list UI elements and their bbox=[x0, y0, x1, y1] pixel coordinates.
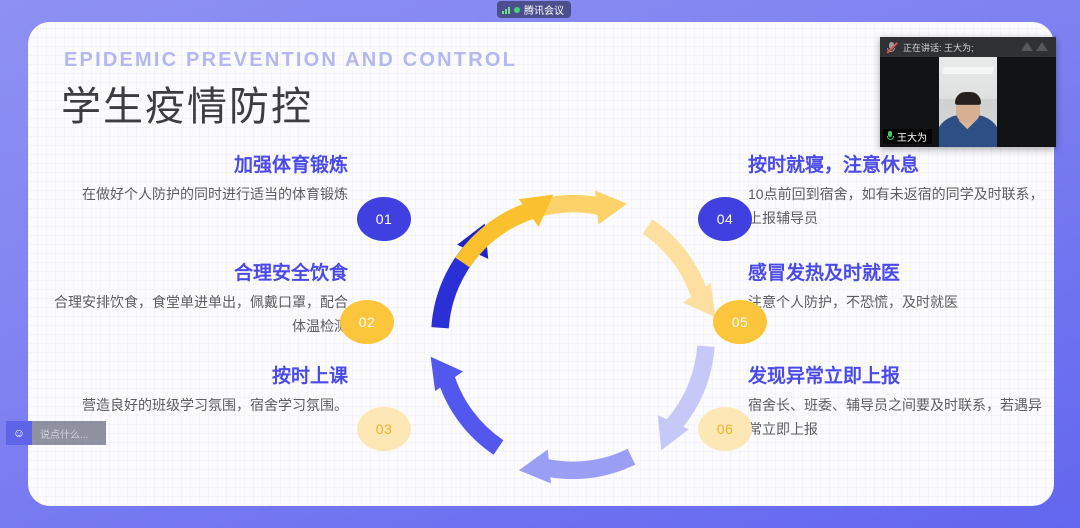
video-stage[interactable]: 王大为 bbox=[880, 57, 1056, 147]
cycle-badge-05: 05 bbox=[713, 300, 767, 344]
cycle-item-body: 合理安排饮食，食堂单进单出，佩戴口罩，配合体温检测 bbox=[48, 290, 348, 338]
cycle-badge-02: 02 bbox=[340, 300, 394, 344]
cycle-badge-label: 03 bbox=[376, 421, 393, 437]
page-title: 学生疫情防控 bbox=[61, 74, 313, 132]
cycle-badge-label: 02 bbox=[359, 314, 376, 330]
cycle-item-02: 合理安全饮食 合理安排饮食，食堂单进单出，佩戴口罩，配合体温检测 bbox=[48, 261, 348, 338]
cycle-badge-03: 03 bbox=[357, 407, 411, 451]
meeting-video-overlay[interactable]: 正在讲话: 王大为; 王大为 bbox=[880, 37, 1056, 147]
mic-on-icon bbox=[886, 131, 894, 142]
cycle-badge-label: 06 bbox=[717, 421, 734, 437]
cycle-item-body: 营造良好的班级学习氛围，宿舍学习氛围。 bbox=[48, 393, 348, 417]
meeting-app-name: 腾讯会议 bbox=[524, 2, 564, 17]
background-decor bbox=[942, 67, 993, 74]
cycle-item-body: 在做好个人防护的同时进行适当的体育锻炼 bbox=[48, 182, 348, 206]
cycle-item-heading: 加强体育锻炼 bbox=[48, 153, 348, 179]
green-status-dot bbox=[514, 7, 520, 13]
cycle-item-06: 发现异常立即上报 宿舍长、班委、辅导员之间要及时联系，若遇异常立即上报 bbox=[748, 364, 1048, 441]
participant-name-label: 王大为 bbox=[897, 129, 927, 144]
cycle-segment-3 bbox=[516, 418, 635, 502]
slide-eyebrow: EPIDEMIC PREVENTION AND CONTROL bbox=[64, 49, 517, 72]
cycle-segment-2 bbox=[408, 352, 523, 455]
cycle-badge-04: 04 bbox=[698, 197, 752, 241]
double-chevron-icon[interactable] bbox=[1021, 42, 1048, 51]
cycle-item-body: 宿舍长、班委、辅导员之间要及时联系，若遇异常立即上报 bbox=[748, 393, 1048, 441]
cycle-badge-label: 05 bbox=[732, 314, 749, 330]
cycle-item-04: 按时就寝，注意休息 10点前回到宿舍，如有未返宿的同学及时联系，上报辅导员 bbox=[748, 153, 1048, 230]
signal-bars-icon bbox=[502, 6, 510, 14]
cycle-item-05: 感冒发热及时就医 注意个人防护，不恐慌，及时就医 bbox=[748, 261, 1048, 314]
six-segment-cycle-diagram bbox=[408, 172, 738, 502]
cycle-item-03: 按时上课 营造良好的班级学习氛围，宿舍学习氛围。 bbox=[48, 364, 348, 417]
cycle-item-body: 注意个人防护，不恐慌，及时就医 bbox=[748, 290, 1048, 314]
cycle-arrows-svg bbox=[408, 172, 738, 502]
cycle-item-heading: 感冒发热及时就医 bbox=[748, 261, 1048, 287]
speaking-status-label: 正在讲话: 王大为; bbox=[903, 41, 974, 54]
screen-root: EPIDEMIC PREVENTION AND CONTROL 学生疫情防控 bbox=[0, 0, 1080, 528]
cycle-item-heading: 合理安全饮食 bbox=[48, 261, 348, 287]
cycle-segment-7 bbox=[455, 172, 558, 287]
chat-input-bar[interactable]: ☺ 说点什么... bbox=[6, 421, 106, 445]
cycle-item-heading: 按时就寝，注意休息 bbox=[748, 153, 1048, 179]
mic-muted-icon[interactable] bbox=[886, 41, 896, 53]
meeting-status-pill[interactable]: 腾讯会议 bbox=[497, 1, 571, 18]
chat-message-input[interactable]: 说点什么... bbox=[32, 426, 106, 441]
person-glasses bbox=[957, 104, 979, 109]
cycle-badge-01: 01 bbox=[357, 197, 411, 241]
cycle-item-body: 10点前回到宿舍，如有未返宿的同学及时联系，上报辅导员 bbox=[748, 182, 1048, 230]
cycle-badge-label: 04 bbox=[717, 211, 734, 227]
cycle-badge-06: 06 bbox=[698, 407, 752, 451]
video-overlay-header: 正在讲话: 王大为; bbox=[880, 37, 1056, 57]
smiley-face-icon[interactable]: ☺ bbox=[6, 421, 32, 445]
cycle-item-01: 加强体育锻炼 在做好个人防护的同时进行适当的体育锻炼 bbox=[48, 153, 348, 206]
participant-name-badge: 王大为 bbox=[883, 129, 932, 144]
cycle-item-heading: 发现异常立即上报 bbox=[748, 364, 1048, 390]
cycle-item-heading: 按时上课 bbox=[48, 364, 348, 390]
cycle-badge-label: 01 bbox=[376, 211, 393, 227]
participant-video-tile[interactable] bbox=[939, 57, 997, 147]
